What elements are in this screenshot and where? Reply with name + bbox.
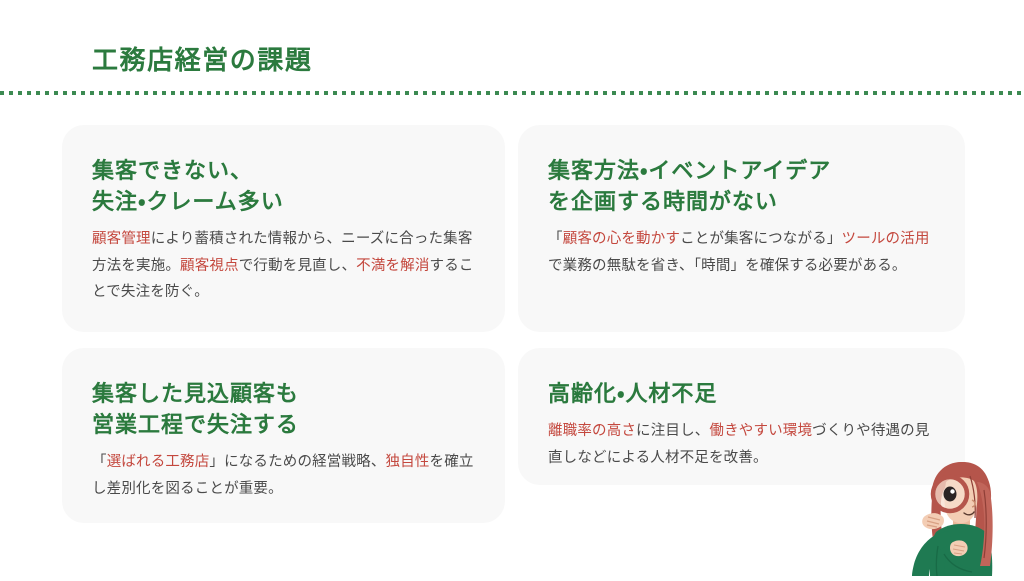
highlighted-keyword: ツールの活用 bbox=[842, 231, 930, 247]
body-text-run: で業務の無駄を省き、「時間」を確保する必要がある。 bbox=[548, 258, 907, 274]
card-body: 「顧客の心を動かすことが集客につながる」ツールの活用で業務の無駄を省き、「時間」… bbox=[548, 226, 935, 279]
highlighted-keyword: 働きやすい環境 bbox=[709, 423, 812, 439]
highlighted-keyword: 不満を解消 bbox=[356, 258, 429, 274]
body-text-run: に注目し、 bbox=[636, 423, 709, 439]
body-text-run: 」になるための経営戦略、 bbox=[209, 454, 385, 470]
dotted-divider bbox=[0, 91, 1024, 95]
card-title: 集客方法・イベントアイデア を企画する時間がない bbox=[548, 155, 935, 217]
highlighted-keyword: 選ばれる工務店 bbox=[107, 454, 210, 470]
highlighted-keyword: 離職率の高さ bbox=[548, 423, 636, 439]
body-text-run: 「 bbox=[548, 231, 563, 247]
card-body: 離職率の高さに注目し、働きやすい環境づくりや待遇の見直しなどによる人材不足を改善… bbox=[548, 418, 935, 471]
card-grid: 集客できない、 失注・クレーム多い 顧客管理により蓄積された情報から、ニーズに合… bbox=[62, 125, 965, 525]
highlighted-keyword: 顧客視点 bbox=[180, 258, 239, 274]
card-event-idea[interactable]: 集客方法・イベントアイデア を企画する時間がない 「顧客の心を動かすことが集客に… bbox=[518, 125, 965, 332]
card-title: 集客できない、 失注・クレーム多い bbox=[92, 155, 475, 217]
card-body: 「選ばれる工務店」になるための経営戦略、独自性を確立し差別化を図ることが重要。 bbox=[92, 449, 475, 502]
body-text-run: で行動を見直し、 bbox=[239, 258, 356, 274]
magnified-eye-shape bbox=[944, 487, 957, 502]
card-body: 顧客管理により蓄積された情報から、ニーズに合った集客方法を実施。顧客視点で行動を… bbox=[92, 226, 475, 305]
woman-with-magnifying-glass-illustration bbox=[898, 454, 1016, 576]
card-title: 高齢化・人材不足 bbox=[548, 378, 935, 409]
highlighted-keyword: 独自性 bbox=[386, 454, 430, 470]
body-text-run: ことが集客につながる」 bbox=[680, 231, 841, 247]
highlighted-keyword: 顧客の心を動かす bbox=[563, 231, 680, 247]
slide-header: 工務店経営の課題 bbox=[0, 0, 1024, 95]
card-eigyo-koutei[interactable]: 集客した見込顧客も 営業工程で失注する 「選ばれる工務店」になるための経営戦略、… bbox=[62, 348, 505, 523]
eye-highlight-shape bbox=[950, 489, 954, 493]
slide-root: 工務店経営の課題 集客できない、 失注・クレーム多い 顧客管理により蓄積された情… bbox=[0, 0, 1024, 576]
card-shukyaku-dekinai[interactable]: 集客できない、 失注・クレーム多い 顧客管理により蓄積された情報から、ニーズに合… bbox=[62, 125, 505, 332]
body-text-run: 「 bbox=[92, 454, 107, 470]
card-title: 集客した見込顧客も 営業工程で失注する bbox=[92, 378, 475, 440]
page-title: 工務店経営の課題 bbox=[92, 40, 312, 77]
highlighted-keyword: 顧客管理 bbox=[92, 231, 151, 247]
